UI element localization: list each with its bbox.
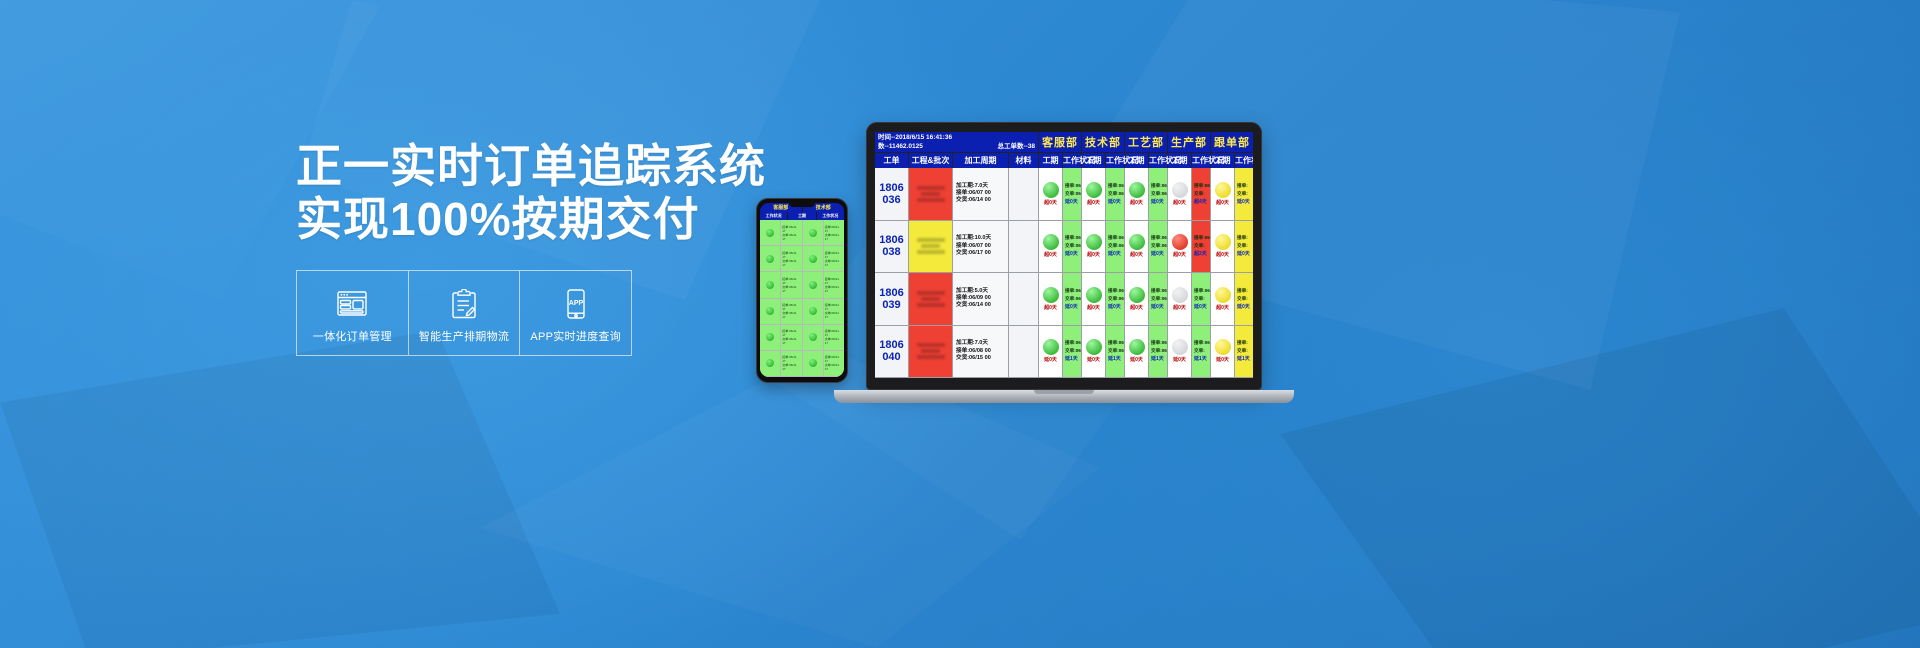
phone-cell [803,351,823,377]
redacted-text-bar [921,192,939,196]
status-foot-tag: 延0天 [1065,199,1079,205]
phone-cell-line: 交单:06/11 17 [825,311,843,319]
phone-cell [803,246,823,272]
phone-cell [760,272,780,298]
phone-grid: 接单:06/11 17 交单:06/11 17 接单:06/11 17 交单:0… [760,220,844,377]
duration-cell: 超0天 [1211,168,1235,220]
phone-cell: 接单:06/11 17 交单:06/11 17 [781,299,801,325]
status-cell: 接单:06/11 17交单:06/11 17延0天 [1106,273,1125,325]
duration-cell: 超0天 [1039,221,1063,273]
status-foot-tag: 延0天 [1237,304,1251,310]
redacted-text-bar [917,355,945,359]
dashboard-total: 总工单数--38 [997,142,1035,151]
dashboard-window-icon [337,287,367,321]
cycle-cell: 加工期:7.0天接单:06/08 00交货:06/15 00 [953,326,1009,378]
order-number: 1806 036 [879,182,903,206]
status-foot-tag: 延0天 [1108,251,1122,257]
duration-cell: 延0天 [1082,326,1106,378]
status-dot-grey [1172,182,1188,198]
status-foot-tag: 延1天 [1194,356,1208,362]
duration-tag: 超0天 [1216,251,1229,258]
dashboard-time: 时间--2018/6/15 16:41:36 [878,133,1035,142]
phone-screen: 客服部 技术部 工作状况 工期 工作状况 接单: [760,203,844,377]
banner-copy: 正一实时订单追踪系统 实现100%按期交付 [296,140,756,356]
phone-cell-line: 交单:06/11 17 [782,311,800,319]
status-cell: 接单:06/11 17交单:06/11 17延0天 [1063,273,1082,325]
dept-header-process[interactable]: 工艺部 [1125,132,1168,152]
status-line: 交单: [1237,296,1251,302]
status-line: 接单:06/12 09 [1194,183,1208,189]
cycle-line: 加工期:10.0天 [956,235,1005,242]
status-line: 接单:06/12 09 [1194,288,1208,294]
dept-header-technical[interactable]: 技术部 [1082,132,1125,152]
duration-cell: 超0天 [1082,168,1106,220]
phone-cell-line: 交单:06/11 17 [825,337,843,345]
order-row[interactable]: 1806 038加工期:10.0天接单:06/07 00交货:06/17 00超… [875,221,1253,274]
status-line: 交单:06/14 04 [1151,243,1165,249]
col-status-follow[interactable]: 工作状况 [1235,153,1253,168]
status-line: 接单: [1237,288,1251,294]
dashboard-info: 时间--2018/6/15 16:41:36 数--11462.0125 总工单… [875,132,1039,152]
status-line: 接单: [1237,235,1251,241]
duration-tag: 超0天 [1130,199,1143,206]
phone-cell-line: 接单:06/11 17 [825,251,843,259]
status-cell: 接单:交单:延0天 [1235,273,1253,325]
status-line: 交单:06/14 04 [1065,243,1079,249]
department-headers: 客服部 技术部 工艺部 生产部 跟单部 [1039,132,1253,152]
col-order[interactable]: 工单 [875,153,909,168]
duration-tag: 超0天 [1087,199,1100,206]
status-line: 交单: [1194,348,1208,354]
phone-column [803,220,824,377]
duration-cell: 超0天 [1125,168,1149,220]
status-dot-red [1172,234,1188,250]
duration-cell: 超0天 [1211,273,1235,325]
status-foot-tag: 延0天 [1108,304,1122,310]
duration-tag: 延0天 [1044,356,1057,363]
duration-cell: 延0天 [1211,326,1235,378]
phone-column: 接单:06/11 17 交单:06/11 17 接单:06/11 17 交单:0… [781,220,802,377]
status-line: 接单: [1237,183,1251,189]
status-dot-green [1043,287,1059,303]
status-cell: 接单:交单:延0天 [1235,221,1253,273]
duration-cell: 延0天 [1168,326,1192,378]
feature-label: 一体化订单管理 [313,328,392,344]
redacted-text-bar [917,303,945,307]
redacted-text-bar [917,250,945,254]
order-number: 1806 038 [879,234,903,258]
status-foot-tag: 延1天 [1151,356,1165,362]
duration-tag: 延0天 [1130,356,1143,363]
status-cell: 接单:06/11 17交单:06/11 17延0天 [1149,273,1168,325]
phone-cell-line: 交单:06/11 17 [825,285,843,293]
dept-header-customer-service[interactable]: 客服部 [1039,132,1082,152]
phone-cell [760,299,780,325]
cycle-line: 加工期:7.0天 [956,340,1005,347]
status-foot-tag: 延0天 [1151,304,1165,310]
status-line: 交单:06/11 17 [1108,191,1122,197]
status-line: 接单:06/11 17 [1151,183,1165,189]
phone-cell-line: 交单:06/11 17 [782,285,800,293]
cycle-line: 交货:06/14 00 [956,302,1005,309]
status-dot-green [1086,339,1102,355]
phone-cell [760,246,780,272]
phone-cell: 接单:06/11 17 交单:06/11 17 [824,272,844,298]
status-foot-tag: 延1天 [1065,356,1079,362]
cycle-line: 接单:06/08 00 [956,348,1005,355]
phone-cell [760,351,780,377]
status-line: 交单:06/11 17 [1108,296,1122,302]
duration-tag: 超0天 [1044,199,1057,206]
status-foot-tag: 延0天 [1065,251,1079,257]
material-cell [1009,221,1039,273]
redacted-text-bar [917,291,945,295]
status-dot-green [1129,234,1145,250]
phone-cell-line: 交单:06/11 17 [782,233,800,241]
col-status-tech[interactable]: 工作状况 [1106,153,1125,168]
duration-tag: 延0天 [1216,356,1229,363]
order-row[interactable]: 1806 039加工期:5.0天接单:06/09 00交货:06/14 00超0… [875,273,1253,326]
duration-cell: 超0天 [1039,273,1063,325]
status-line: 交单: [1237,243,1251,249]
cycle-cell: 加工期:7.0天接单:06/07 00交货:06/14 00 [953,168,1009,220]
status-dot-green [809,359,817,367]
status-foot-tag: 延1天 [1237,356,1251,362]
status-line: 交单:06/11 17 [1151,348,1165,354]
phone-column-header: 工作状况 工期 工作状况 [760,212,844,220]
status-line: 交单: [1194,191,1208,197]
headline-line-1: 正一实时订单追踪系统 [296,140,756,193]
cycle-line: 交货:06/14 00 [956,197,1005,204]
phone-column [760,220,781,377]
feature-label: 智能生产排期物流 [419,328,509,344]
phone-cell [803,325,823,351]
laptop-base [834,390,1294,403]
phone-notch [789,203,815,207]
phone-cell-line: 接单:06/11 17 [782,251,800,259]
redacted-text-bar [921,349,939,353]
status-line: 交单:06/11 17 [1065,296,1079,302]
status-foot-tag: 延0天 [1108,199,1122,205]
duration-cell: 超0天 [1168,221,1192,273]
duration-cell: 超0天 [1211,221,1235,273]
duration-cell: 超0天 [1168,168,1192,220]
redacted-text-bar [921,297,939,301]
status-cell: 接单:06/12 09交单:延0天 [1192,273,1211,325]
status-dot-green [766,359,774,367]
status-cell: 接单:06/11 17交单:06/11 17延1天 [1149,326,1168,378]
status-foot-tag: 延0天 [1237,251,1251,257]
phone-cell-line: 接单:06/11 17 [825,277,843,285]
phone-cell: 接单:06/11 17 交单:06/11 17 [824,351,844,377]
phone-cell-line: 交单:06/11 17 [825,363,843,371]
duration-cell: 延0天 [1039,326,1063,378]
status-line: 交单: [1237,191,1251,197]
dashboard-top-bar: 时间--2018/6/15 16:41:36 数--11462.0125 总工单… [875,132,1253,152]
phone-cell-line: 交单:06/11 17 [825,259,843,267]
status-cell: 接单:交单:延0天 [1235,168,1253,220]
phone-cell: 接单:06/11 17 交单:06/11 17 [824,246,844,272]
status-line: 交单:06/11 17 [1065,348,1079,354]
duration-tag: 超0天 [1173,251,1186,258]
status-cell: 接单:06/11 17交单:06/11 17延0天 [1149,168,1168,220]
order-grid: 1806 036加工期:7.0天接单:06/07 00交货:06/14 00超0… [875,168,1253,378]
status-foot-tag: 延0天 [1065,304,1079,310]
project-batch-cell [909,168,953,220]
column-header-row: 工单 工程&批次 加工周期 材料 工期 工作状况 工期 工作状况 工期 工作状况… [875,152,1253,168]
status-dot-green [1043,339,1059,355]
status-cell: 接单:06/12 09交单:超4天 [1192,168,1211,220]
duration-cell: 超0天 [1082,273,1106,325]
order-number-cell: 1806 040 [875,326,909,378]
col-status-proc[interactable]: 工作状况 [1149,153,1168,168]
status-dot-green [809,307,817,315]
status-foot-tag: 延0天 [1151,199,1165,205]
status-line: 接单:06/11 17 [1065,288,1079,294]
status-line: 接单:06/11 17 [1065,340,1079,346]
duration-cell: 超0天 [1125,273,1149,325]
phone-cell: 接单:06/11 17 交单:06/11 17 [781,351,801,377]
status-dot-green [1043,182,1059,198]
col-duration-proc[interactable]: 工期 [1125,153,1149,168]
redacted-text-bar [917,198,945,202]
order-number-cell: 1806 038 [875,221,909,273]
phone-mockup: 客服部 技术部 工作状况 工期 工作状况 接单: [756,198,848,383]
redacted-text-bar [917,343,945,347]
phone-cell-line: 交单:06/11 17 [782,337,800,345]
cycle-cell: 加工期:10.0天接单:06/07 00交货:06/17 00 [953,221,1009,273]
phone-col: 工作状况 [760,212,788,220]
status-dot-yellow [1215,234,1231,250]
status-line: 交单:06/14 04 [1108,243,1122,249]
status-line: 接单:06/11 17 [1065,183,1079,189]
status-line: 交单: [1194,243,1208,249]
status-cell: 接单:06/11 17交单:06/11 17延1天 [1063,326,1082,378]
material-cell [1009,273,1039,325]
col-duration-follow[interactable]: 工期 [1211,153,1235,168]
order-number-cell: 1806 039 [875,273,909,325]
status-line: 交单: [1237,348,1251,354]
status-line: 接单: [1237,340,1251,346]
phone-cell-line: 接单:06/11 17 [825,225,843,233]
status-dot-green [766,333,774,341]
redacted-text-bar [917,238,945,242]
mobile-app-icon: APP [565,287,587,321]
status-dot-green [809,333,817,341]
status-line: 接单:06/11 17 [1194,340,1208,346]
status-line: 接单:06/14 04 [1151,235,1165,241]
phone-cell-line: 接单:06/11 17 [825,303,843,311]
project-batch-cell [909,326,953,378]
status-dot-green [766,229,774,237]
col-duration-tech[interactable]: 工期 [1082,153,1106,168]
phone-cell-line: 交单:06/11 17 [782,363,800,371]
col-material[interactable]: 材料 [1009,153,1039,168]
status-dot-green [1086,287,1102,303]
status-cell: 接单:交单:延1天 [1235,326,1253,378]
project-batch-cell [909,221,953,273]
duration-tag: 超0天 [1044,251,1057,258]
status-line: 接单:06/11 17 [1151,288,1165,294]
cycle-line: 接单:06/07 00 [956,243,1005,250]
cycle-line: 加工期:5.0天 [956,288,1005,295]
status-cell: 接单:06/14 04交单:06/14 04延0天 [1149,221,1168,273]
status-cell: 接单:06/12 20交单:06/14 04延0天 [1063,221,1082,273]
status-dot-green [766,281,774,289]
phone-cell [803,220,823,246]
laptop-mockup: 时间--2018/6/15 16:41:36 数--11462.0125 总工单… [866,122,1262,403]
status-line: 交单: [1194,296,1208,302]
status-line: 接单:06/14 04 [1194,235,1208,241]
status-line: 接单:06/11 17 [1108,183,1122,189]
status-cell: 接单:06/14 04交单:超2天 [1192,221,1211,273]
cycle-cell: 加工期:5.0天接单:06/09 00交货:06/14 00 [953,273,1009,325]
status-dot-green [809,255,817,263]
status-dot-green [1043,234,1059,250]
cycle-line: 加工期:7.0天 [956,183,1005,190]
headline-line-2: 实现100%按期交付 [296,193,756,246]
status-foot-tag: 超2天 [1194,251,1208,257]
duration-tag: 延0天 [1087,356,1100,363]
status-cell: 接单:06/11 17交单:延1天 [1192,326,1211,378]
phone-cell: 接单:06/11 17 交单:06/11 17 [824,220,844,246]
status-cell: 接单:06/11 17交单:06/11 17延0天 [1063,168,1082,220]
duration-tag: 超0天 [1130,304,1143,311]
feature-label: APP实时进度查询 [530,328,621,344]
status-dot-green [809,229,817,237]
status-line: 交单:06/11 17 [1065,191,1079,197]
phone-cell-line: 交单:06/11 17 [825,233,843,241]
phone-column: 接单:06/11 17 交单:06/11 17 接单:06/11 17 交单:0… [824,220,844,377]
material-cell [1009,326,1039,378]
status-dot-green [766,307,774,315]
status-foot-tag: 超4天 [1194,199,1208,205]
col-project[interactable]: 工程&批次 [909,153,953,168]
status-dot-green [1086,182,1102,198]
phone-cell: 接单:06/11 17 交单:06/11 17 [781,246,801,272]
status-cell: 接单:06/11 17交单:06/11 17延1天 [1106,326,1125,378]
duration-tag: 超0天 [1216,199,1229,206]
status-dot-green [1086,234,1102,250]
phone-col: 工期 [788,212,816,220]
col-cycle[interactable]: 加工周期 [953,153,1009,168]
duration-cell: 超0天 [1039,168,1063,220]
status-dot-green [766,255,774,263]
feature-item-order-management[interactable]: 一体化订单管理 [297,271,409,355]
dept-header-followup[interactable]: 跟单部 [1211,132,1253,152]
phone-cell [760,325,780,351]
phone-cell: 接单:06/11 17 交单:06/11 17 [824,325,844,351]
feature-list: 一体化订单管理 智能生产排期物流 [296,270,632,356]
status-line: 交单:06/11 17 [1108,348,1122,354]
duration-tag: 超0天 [1087,251,1100,258]
cycle-line: 交货:06/17 00 [956,250,1005,257]
order-row[interactable]: 1806 036加工期:7.0天接单:06/07 00交货:06/14 00超0… [875,168,1253,221]
phone-cell-line: 接单:06/11 17 [782,225,800,233]
dept-header-production[interactable]: 生产部 [1168,132,1211,152]
phone-cell [803,272,823,298]
col-status-cs[interactable]: 工作状况 [1063,153,1082,168]
status-foot-tag: 延0天 [1151,251,1165,257]
duration-cell: 超0天 [1168,273,1192,325]
phone-cell: 接单:06/11 17 交单:06/11 17 [781,220,801,246]
status-dot-green [1129,339,1145,355]
status-line: 接单:06/11 17 [1108,340,1122,346]
status-foot-tag: 延1天 [1108,356,1122,362]
status-cell: 接单:06/11 17交单:06/11 17延0天 [1106,168,1125,220]
order-number: 1806 040 [879,339,903,363]
cycle-line: 交货:06/15 00 [956,355,1005,362]
status-dot-green [1129,182,1145,198]
status-foot-tag: 延0天 [1194,304,1208,310]
duration-cell: 延0天 [1125,326,1149,378]
order-row[interactable]: 1806 040加工期:7.0天接单:06/08 00交货:06/15 00延0… [875,326,1253,379]
duration-cell: 超0天 [1082,221,1106,273]
svg-text:APP: APP [568,300,583,307]
status-line: 接单:06/14 04 [1108,235,1122,241]
duration-tag: 超0天 [1173,304,1186,311]
status-dot-grey [1172,339,1188,355]
duration-cell: 超0天 [1125,221,1149,273]
phone-cell: 接单:06/11 17 交单:06/11 17 [781,325,801,351]
duration-tag: 延0天 [1173,356,1186,363]
phone-cell [803,299,823,325]
phone-cell-line: 接单:06/11 17 [782,303,800,311]
status-line: 接单:06/11 17 [1108,288,1122,294]
col-duration-prod[interactable]: 工期 [1168,153,1192,168]
phone-cell-line: 交单:06/11 17 [782,259,800,267]
order-number: 1806 039 [879,287,903,311]
duration-tag: 超0天 [1087,304,1100,311]
dashboard-count: 数--11462.0125 [878,142,923,151]
clipboard-edit-icon [451,287,477,321]
laptop-lid: 时间--2018/6/15 16:41:36 数--11462.0125 总工单… [866,122,1262,390]
order-number-cell: 1806 036 [875,168,909,220]
redacted-text-bar [921,244,939,248]
status-line: 交单:06/11 17 [1151,191,1165,197]
bg-facet [0,330,560,648]
status-foot-tag: 延0天 [1237,199,1251,205]
promo-banner: 正一实时订单追踪系统 实现100%按期交付 [0,0,1920,648]
feature-item-smart-scheduling[interactable]: 智能生产排期物流 [409,271,521,355]
phone-cell-line: 接单:06/11 17 [782,277,800,285]
phone-cell [760,220,780,246]
duration-tag: 超0天 [1130,251,1143,258]
material-cell [1009,168,1039,220]
status-line: 接单:06/12 20 [1065,235,1079,241]
phone-cell: 接单:06/11 17 交单:06/11 17 [824,299,844,325]
feature-item-app-tracking[interactable]: APP APP实时进度查询 [520,271,631,355]
duration-tag: 超0天 [1216,304,1229,311]
status-dot-yellow [1215,287,1231,303]
phone-col: 工作状况 [817,212,844,220]
status-dot-yellow [1215,182,1231,198]
bg-facet [1280,308,1920,648]
col-duration-cs[interactable]: 工期 [1039,153,1063,168]
status-dot-green [1129,287,1145,303]
status-dot-grey [1172,287,1188,303]
status-cell: 接单:06/14 04交单:06/14 04延0天 [1106,221,1125,273]
duration-tag: 超0天 [1173,199,1186,206]
redacted-text-bar [917,186,945,190]
phone-cell: 接单:06/11 17 交单:06/11 17 [781,272,801,298]
duration-tag: 超0天 [1044,304,1057,311]
status-dot-yellow [1215,339,1231,355]
col-status-prod[interactable]: 工作状况 [1192,153,1211,168]
project-batch-cell [909,273,953,325]
status-line: 接单:06/11 17 [1151,340,1165,346]
status-dot-green [809,281,817,289]
